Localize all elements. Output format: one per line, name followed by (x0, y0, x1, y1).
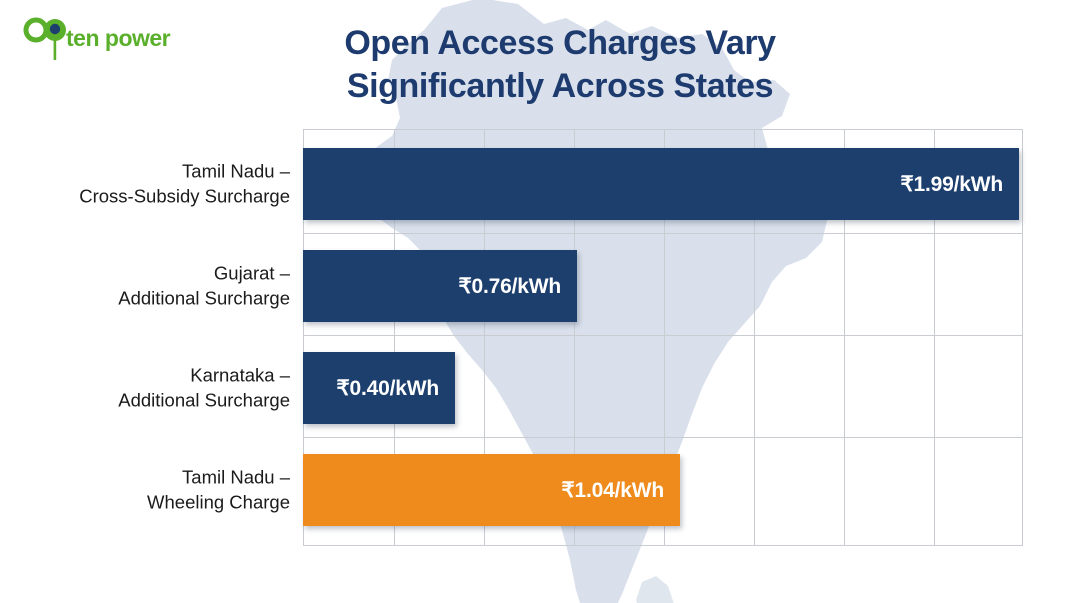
chart-row: Karnataka – Additional Surcharge ₹0.40/k… (0, 337, 1080, 439)
category-label-line-2: Cross-Subsidy Surcharge (10, 184, 290, 209)
page-title: Open Access Charges Vary Significantly A… (240, 22, 880, 108)
bar-tamil-nadu-cross-subsidy-surcharge[interactable]: ₹1.99/kWh (303, 148, 1019, 220)
bar-value-label: ₹1.99/kWh (900, 172, 1019, 197)
chart-row: Tamil Nadu – Wheeling Charge ₹1.04/kWh (0, 439, 1080, 541)
category-label-line-1: Gujarat – (10, 261, 290, 286)
category-label-line-2: Wheeling Charge (10, 490, 290, 515)
category-label-line-1: Tamil Nadu – (10, 465, 290, 490)
bar-value-label: ₹1.04/kWh (561, 478, 680, 503)
chart-row: Gujarat – Additional Surcharge ₹0.76/kWh (0, 235, 1080, 337)
category-label-line-1: Karnataka – (10, 363, 290, 388)
title-line-2: Significantly Across States (240, 65, 880, 108)
category-label-line-2: Additional Surcharge (10, 388, 290, 413)
brand-logo[interactable]: ten power (22, 16, 182, 60)
bar-value-label: ₹0.76/kWh (458, 274, 577, 299)
category-label-line-1: Tamil Nadu – (10, 159, 290, 184)
logo-wordmark: ten power (66, 25, 171, 51)
bar-gujarat-additional-surcharge[interactable]: ₹0.76/kWh (303, 250, 577, 322)
category-label-line-2: Additional Surcharge (10, 286, 290, 311)
slide-canvas: ten power Open Access Charges Vary Signi… (0, 0, 1080, 603)
logo-sprout-icon (26, 19, 66, 60)
title-line-1: Open Access Charges Vary (240, 22, 880, 65)
bar-karnataka-additional-surcharge[interactable]: ₹0.40/kWh (303, 352, 455, 424)
category-label: Karnataka – Additional Surcharge (10, 363, 290, 412)
chart-row: Tamil Nadu – Cross-Subsidy Surcharge ₹1.… (0, 133, 1080, 235)
category-label: Tamil Nadu – Wheeling Charge (10, 465, 290, 514)
category-label: Tamil Nadu – Cross-Subsidy Surcharge (10, 159, 290, 208)
category-label: Gujarat – Additional Surcharge (10, 261, 290, 310)
bar-value-label: ₹0.40/kWh (336, 376, 455, 401)
bar-tamil-nadu-wheeling-charge[interactable]: ₹1.04/kWh (303, 454, 680, 526)
